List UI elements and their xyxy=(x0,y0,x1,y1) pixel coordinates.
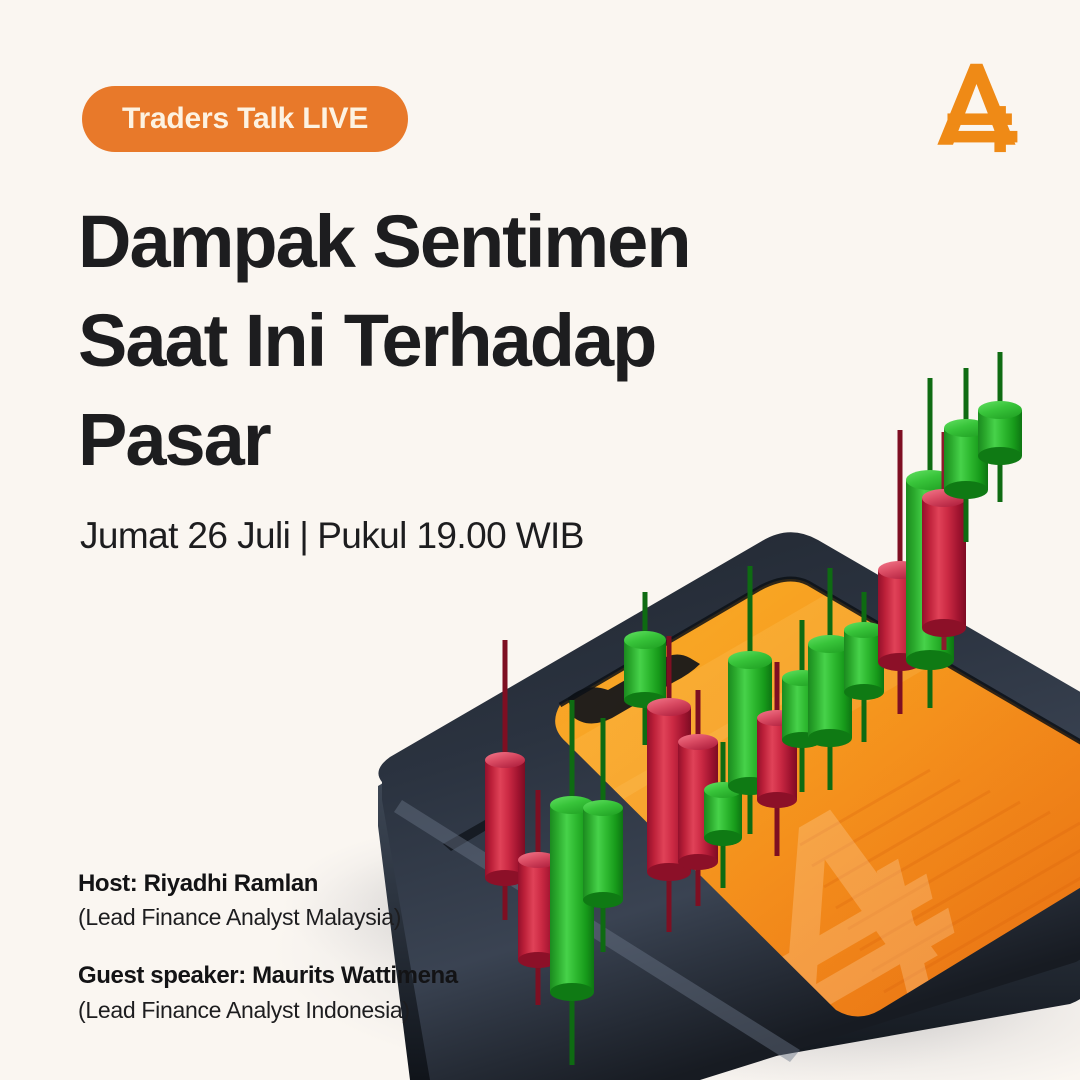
guest-entry: Guest speaker: Maurits Wattimena (Lead F… xyxy=(78,960,458,1026)
host-role: (Lead Finance Analyst Malaysia) xyxy=(78,902,458,934)
speakers-block: Host: Riyadhi Ramlan (Lead Finance Analy… xyxy=(78,868,458,1026)
austral-a-logo-icon xyxy=(930,58,1022,156)
schedule-date: Jumat 26 Juli xyxy=(80,515,290,556)
headline-line-1: Dampak Sentimen xyxy=(78,192,818,291)
poster-canvas: Traders Talk LIVE Dampak Sentimen Saat I… xyxy=(0,0,1080,1080)
page-title: Dampak Sentimen Saat Ini Terhadap Pasar xyxy=(78,192,818,489)
guest-name: Guest speaker: Maurits Wattimena xyxy=(78,960,458,992)
host-name: Host: Riyadhi Ramlan xyxy=(78,868,458,900)
live-badge-label: Traders Talk LIVE xyxy=(122,102,368,136)
headline-line-2: Saat Ini Terhadap xyxy=(78,291,818,390)
live-badge[interactable]: Traders Talk LIVE xyxy=(82,86,408,152)
schedule-separator: | xyxy=(290,515,317,556)
guest-role: (Lead Finance Analyst Indonesia) xyxy=(78,995,458,1027)
headline-line-3: Pasar xyxy=(78,390,818,489)
schedule-time: Pukul 19.00 WIB xyxy=(317,515,584,556)
host-entry: Host: Riyadhi Ramlan (Lead Finance Analy… xyxy=(78,868,458,934)
schedule-line: Jumat 26 Juli|Pukul 19.00 WIB xyxy=(80,515,584,557)
